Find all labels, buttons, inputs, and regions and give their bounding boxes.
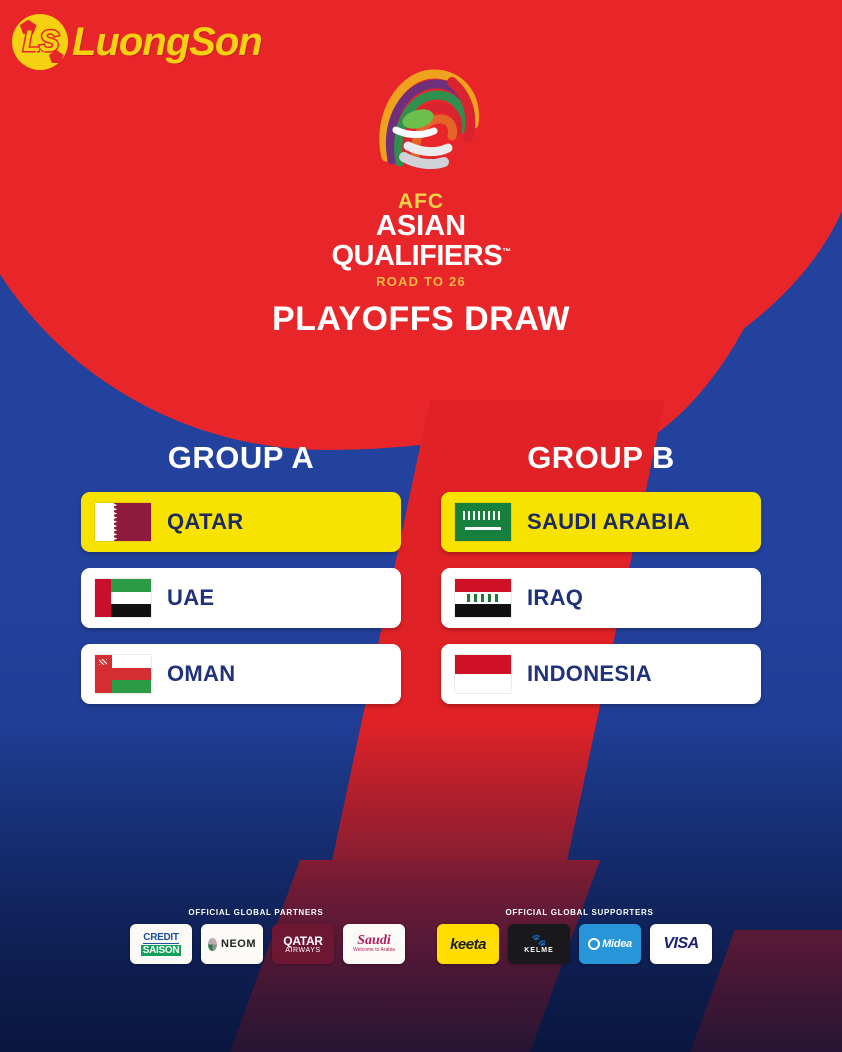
trademark-icon: ™: [502, 246, 511, 256]
kelme-text: KELME: [524, 947, 554, 954]
indonesia-flag-icon: [455, 655, 511, 693]
saudi-arabia-flag-icon: [455, 503, 511, 541]
qatar-airways-line2: AIRWAYS: [285, 947, 321, 954]
group-b-title: GROUP B: [441, 440, 761, 476]
sponsor-logos-row: CREDIT SAISON NEOM QATAR AIRWAYS Saudi W…: [0, 924, 842, 964]
qatar-flag-icon: [95, 503, 151, 541]
group-b-column: GROUP B SAUDI ARABIA IRAQ INDONESIA: [441, 440, 761, 720]
team-name: OMAN: [167, 661, 235, 687]
oman-flag-icon: [95, 655, 151, 693]
logo-qualifiers-text: QUALIFIERS: [331, 240, 502, 272]
team-name: UAE: [167, 585, 214, 611]
credit-saison-top-text: CREDIT: [143, 933, 178, 944]
logo-line-afc: AFC: [326, 191, 516, 212]
saudi-line1: Saudi: [357, 934, 390, 948]
midea-ring-icon: [588, 938, 600, 950]
watermark-logo: LS TV LuongSon: [12, 14, 262, 70]
sponsor-midea-logo[interactable]: Midea: [579, 924, 641, 964]
logo-line-asian: ASIAN: [326, 212, 516, 242]
supporters-label: OFFICIAL GLOBAL SUPPORTERS: [505, 908, 653, 917]
afc-asian-qualifiers-logo: AFC ASIAN QUALIFIERS™ ROAD TO 26: [326, 62, 516, 289]
team-row[interactable]: IRAQ: [441, 568, 761, 628]
neom-flower-icon: [208, 938, 217, 951]
team-name: IRAQ: [527, 585, 583, 611]
sponsor-visa-logo[interactable]: VISA: [650, 924, 712, 964]
logo-line-qualifiers: QUALIFIERS™: [326, 242, 516, 272]
paw-icon: 🐾: [532, 934, 547, 946]
sponsor-bar: OFFICIAL GLOBAL PARTNERS OFFICIAL GLOBAL…: [0, 908, 842, 964]
sponsor-keeta-logo[interactable]: keeta: [437, 924, 499, 964]
group-a-title: GROUP A: [81, 440, 401, 476]
groups-container: GROUP A QATAR UAE OMAN GROU: [0, 440, 842, 720]
sponsor-labels: OFFICIAL GLOBAL PARTNERS OFFICIAL GLOBAL…: [0, 908, 842, 917]
team-name: QATAR: [167, 509, 243, 535]
sponsor-saudi-logo[interactable]: Saudi Welcome to Arabia: [343, 924, 405, 964]
sponsor-credit-saison-logo[interactable]: CREDIT SAISON: [130, 924, 192, 964]
sponsor-qatar-airways-logo[interactable]: QATAR AIRWAYS: [272, 924, 334, 964]
team-name: INDONESIA: [527, 661, 652, 687]
credit-saison-bottom-text: SAISON: [141, 945, 182, 956]
neom-text: NEOM: [221, 938, 256, 950]
watermark-badge-sub: TV: [34, 49, 46, 58]
uae-flag-icon: [95, 579, 151, 617]
logo-tagline: ROAD TO 26: [326, 274, 516, 289]
partners-label: OFFICIAL GLOBAL PARTNERS: [188, 908, 323, 917]
page-title: PLAYOFFS DRAW: [0, 300, 842, 339]
iraq-flag-icon: [455, 579, 511, 617]
watermark-brand-text: LuongSon: [72, 20, 262, 65]
background-bottom-gradient: [0, 722, 842, 1052]
playoffs-draw-graphic: LS TV LuongSon AFC ASIAN QUALIFIERS™ ROA…: [0, 0, 842, 1052]
watermark-ball-icon: LS TV: [12, 14, 68, 70]
sponsor-kelme-logo[interactable]: 🐾 KELME: [508, 924, 570, 964]
midea-text: Midea: [602, 938, 632, 950]
team-row[interactable]: INDONESIA: [441, 644, 761, 704]
afc-swirl-icon: [356, 62, 486, 182]
keeta-text: keeta: [450, 936, 486, 953]
qatar-airways-line1: QATAR: [283, 935, 322, 947]
team-row[interactable]: UAE: [81, 568, 401, 628]
team-row[interactable]: QATAR: [81, 492, 401, 552]
saudi-line2: Welcome to Arabia: [353, 948, 395, 954]
group-a-column: GROUP A QATAR UAE OMAN: [81, 440, 401, 720]
visa-text: VISA: [663, 935, 698, 953]
team-name: SAUDI ARABIA: [527, 509, 690, 535]
team-row[interactable]: SAUDI ARABIA: [441, 492, 761, 552]
team-row[interactable]: OMAN: [81, 644, 401, 704]
watermark-badge-text: LS: [12, 14, 68, 70]
sponsor-neom-logo[interactable]: NEOM: [201, 924, 263, 964]
